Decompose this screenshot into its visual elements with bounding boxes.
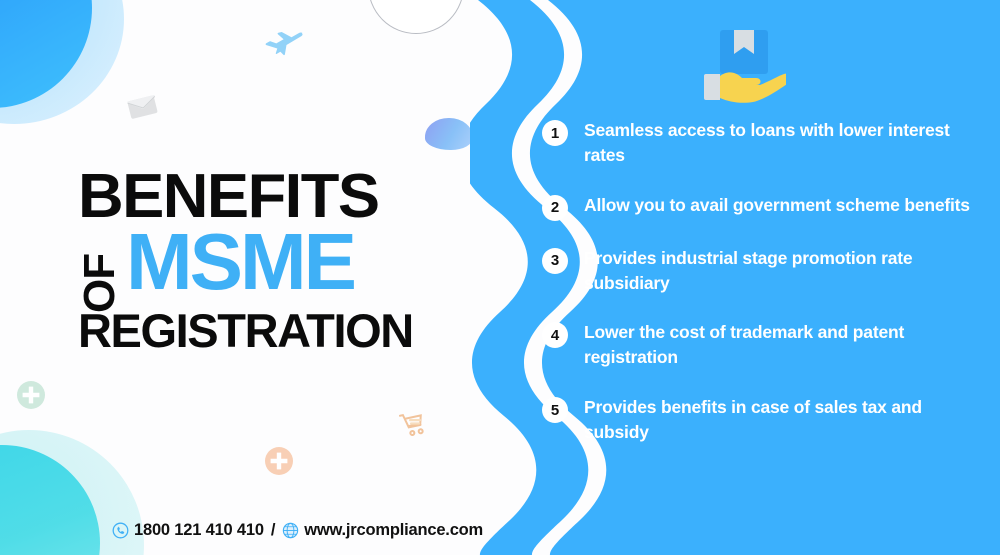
blue-gradient-circle-decoration (0, 0, 92, 108)
benefits-list: 1 Seamless access to loans with lower in… (542, 118, 982, 470)
list-item: 4 Lower the cost of trademark and patent… (542, 320, 982, 370)
title-middle-row: OF MSME (78, 227, 438, 313)
list-item: 3 Provides industrial stage promotion ra… (542, 246, 982, 296)
hand-holding-box-icon (702, 26, 786, 104)
page-title: BENEFITS OF MSME REGISTRATION (78, 168, 438, 354)
list-item: 5 Provides benefits in case of sales tax… (542, 395, 982, 445)
item-number-badge: 5 (542, 397, 568, 423)
circle-outline-decoration (368, 0, 464, 34)
title-line-benefits: BENEFITS (78, 168, 445, 225)
folder-icon (126, 92, 160, 122)
list-item: 1 Seamless access to loans with lower in… (542, 118, 982, 168)
contact-footer: 1800 121 410 410 / www.jrcompliance.com (112, 521, 483, 540)
item-text: Lower the cost of trademark and patent r… (584, 320, 976, 370)
plus-circle-icon (16, 380, 46, 410)
website-url[interactable]: www.jrcompliance.com (304, 521, 483, 540)
footer-separator: / (271, 521, 275, 540)
airplane-icon (262, 28, 304, 58)
infographic-poster: BENEFITS OF MSME REGISTRATION 1800 121 4… (0, 0, 1000, 555)
item-number-badge: 2 (542, 195, 568, 221)
item-number-badge: 4 (542, 322, 568, 348)
item-number-badge: 1 (542, 120, 568, 146)
item-text: Allow you to avail government scheme ben… (584, 193, 970, 218)
shopping-cart-icon (398, 408, 430, 440)
title-word-of: OF (78, 227, 122, 313)
title-line-registration: REGISTRATION (78, 309, 438, 354)
list-item: 2 Allow you to avail government scheme b… (542, 193, 982, 221)
item-number-badge: 3 (542, 248, 568, 274)
purple-blue-blob-decoration (425, 118, 473, 150)
phone-in-circle-icon (112, 522, 129, 539)
blue-circle-ring-decoration (0, 0, 124, 124)
item-text: Seamless access to loans with lower inte… (584, 118, 976, 168)
teal-gradient-circle-decoration (0, 445, 100, 555)
plus-circle-icon (264, 446, 294, 476)
benefits-panel: 1 Seamless access to loans with lower in… (470, 0, 1000, 555)
title-word-msme: MSME (126, 225, 354, 299)
item-text: Provides benefits in case of sales tax a… (584, 395, 976, 445)
phone-number[interactable]: 1800 121 410 410 (134, 521, 264, 540)
globe-icon (282, 522, 299, 539)
item-text: Provides industrial stage promotion rate… (584, 246, 976, 296)
